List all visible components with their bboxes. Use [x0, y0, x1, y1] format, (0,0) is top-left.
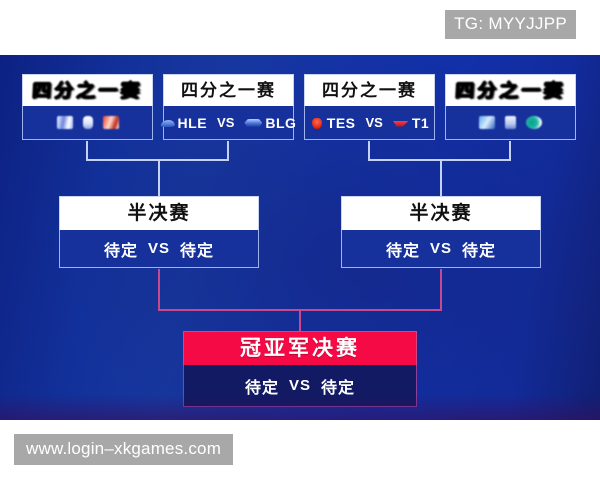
hle-logo-icon: [161, 117, 175, 129]
match-card-quarterfinal-1[interactable]: 四分之一赛: [22, 74, 153, 140]
final-teams: 待定 VS 待定: [183, 365, 417, 407]
quarterfinal-3-title: 四分之一赛: [304, 74, 435, 106]
censored-vs-icon: [83, 116, 93, 129]
connector-left-to-sf: [158, 159, 160, 197]
connector-qf4-down: [509, 141, 511, 161]
quarterfinal-1-teams: [22, 106, 153, 140]
quarterfinal-2-vs-label: VS: [213, 115, 238, 130]
final-vs-label: VS: [279, 377, 321, 394]
quarterfinal-2-title: 四分之一赛: [163, 74, 294, 106]
semifinal-2-team-b: 待定: [462, 237, 496, 261]
team-t1: T1: [393, 115, 429, 131]
match-card-quarterfinal-3[interactable]: 四分之一赛 TES VS T1: [304, 74, 435, 140]
team-hle-label: HLE: [178, 115, 208, 131]
team-tes: TES: [310, 115, 356, 131]
team-t1-label: T1: [412, 115, 429, 131]
censored-logo-icon: [479, 116, 495, 129]
blg-logo-icon: [244, 117, 262, 129]
team-blg-label: BLG: [265, 115, 296, 131]
final-team-a: 待定: [245, 374, 279, 398]
semifinal-1-vs-label: VS: [138, 240, 180, 257]
quarterfinal-3-vs-label: VS: [362, 115, 387, 130]
censored-logo-icon: [57, 116, 73, 129]
semifinal-1-title: 半决赛: [59, 196, 259, 230]
connector-right-to-sf: [440, 159, 442, 197]
t1-logo-icon: [393, 117, 409, 129]
match-card-quarterfinal-4[interactable]: 四分之一赛: [445, 74, 576, 140]
semifinal-1-team-a: 待定: [104, 237, 138, 261]
quarterfinal-4-title: 四分之一赛: [445, 74, 576, 106]
quarterfinal-3-teams: TES VS T1: [304, 106, 435, 140]
tournament-bracket-image: 四分之一赛 四分之一赛 HLE VS BLG: [0, 0, 600, 480]
semifinal-2-vs-label: VS: [420, 240, 462, 257]
semifinal-2-title: 半决赛: [341, 196, 541, 230]
bracket-canvas: 四分之一赛 四分之一赛 HLE VS BLG: [0, 55, 600, 420]
final-title: 冠亚军决赛: [183, 331, 417, 365]
match-card-final[interactable]: 冠亚军决赛 待定 VS 待定: [183, 331, 417, 407]
watermark-top-right: TG: MYYJJPP: [445, 10, 576, 39]
tes-logo-icon: [310, 117, 324, 129]
team-blg: BLG: [244, 115, 296, 131]
quarterfinal-2-teams: HLE VS BLG: [163, 106, 294, 140]
semifinal-2-teams: 待定 VS 待定: [341, 230, 541, 268]
match-card-semifinal-2[interactable]: 半决赛 待定 VS 待定: [341, 196, 541, 268]
team-tes-label: TES: [327, 115, 356, 131]
connector-qf3-down: [368, 141, 370, 161]
match-card-semifinal-1[interactable]: 半决赛 待定 VS 待定: [59, 196, 259, 268]
connector-qf1-down: [86, 141, 88, 161]
match-card-quarterfinal-2[interactable]: 四分之一赛 HLE VS BLG: [163, 74, 294, 140]
censored-vs-icon: [505, 116, 516, 129]
censored-logo-icon: [103, 116, 119, 129]
quarterfinal-1-title: 四分之一赛: [22, 74, 153, 106]
quarterfinal-4-teams: [445, 106, 576, 140]
connector-sf1-down: [158, 269, 160, 310]
team-hle: HLE: [161, 115, 208, 131]
connector-sf2-down: [440, 269, 442, 310]
watermark-bottom-left: www.login–xkgames.com: [14, 434, 233, 465]
connector-qf2-down: [227, 141, 229, 161]
semifinal-1-team-b: 待定: [180, 237, 214, 261]
censored-logo-icon: [526, 116, 542, 129]
semifinal-1-teams: 待定 VS 待定: [59, 230, 259, 268]
semifinal-2-team-a: 待定: [386, 237, 420, 261]
final-team-b: 待定: [321, 374, 355, 398]
connector-to-final: [299, 309, 301, 332]
